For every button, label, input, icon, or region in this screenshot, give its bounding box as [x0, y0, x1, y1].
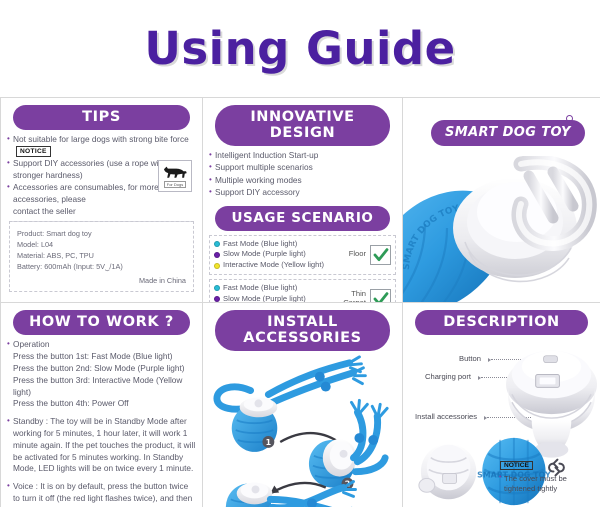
check-icon: [373, 247, 389, 263]
usage-scenario-table: Fast Mode (Blue light) Slow Mode (Purple…: [209, 235, 396, 303]
panel-install-accessories: INSTALL ACCESSORIES: [203, 303, 403, 507]
panel-grid: TIPS Not suitable for large dogs with st…: [0, 97, 600, 507]
scenario-modes: Fast Mode (Blue light) Slow Mode (Purple…: [214, 239, 332, 271]
panel-brand-hero: SMART DOG TOY: [403, 98, 600, 303]
list-item: Not suitable for large dogs with strong …: [7, 134, 196, 158]
table-row: Fast Mode (Blue light) Slow Mode (Purple…: [209, 279, 396, 303]
mode-label: Slow Mode (Purple light): [223, 294, 306, 303]
using-guide-page: Using Guide TIPS Not suitable for large …: [0, 0, 600, 507]
for-dogs-caption: For Dogs: [164, 181, 186, 188]
how-to-work-header: HOW TO WORK ?: [13, 310, 190, 335]
usage-scenario-header: USAGE SCENARIO: [215, 206, 390, 231]
spec-product-label: Product:: [17, 229, 44, 238]
panel-description: DESCRIPTION Button Charging port Install…: [403, 303, 600, 507]
check-icon: [373, 291, 389, 303]
page-title: Using Guide: [144, 22, 455, 75]
standby-list: Standby : The toy will be in Standby Mod…: [7, 416, 196, 475]
spec-model-label: Model:: [17, 240, 39, 249]
brand-badge: SMART DOG TOY: [431, 120, 585, 146]
spec-made-in: Made in China: [17, 275, 186, 286]
operation-step: Press the button 1st: Fast Mode (Blue li…: [7, 351, 196, 363]
scenario-surface-label: Thin Carpet: [336, 290, 366, 303]
mode-dot-slow: [214, 252, 220, 258]
innovative-design-bullet-list: Intelligent Induction Start-up Support m…: [209, 150, 396, 199]
dog-silhouette-icon: [162, 165, 188, 180]
spec-product-value: Smart dog toy: [46, 229, 91, 238]
product-hero-image: SMART DOG TOY: [403, 156, 600, 303]
spec-battery-label: Battery:: [17, 262, 42, 271]
description-diagram: Button Charging port Install accessories: [409, 338, 594, 507]
description-header: DESCRIPTION: [415, 310, 588, 335]
description-notice: NOTICE The cover must be tightened tight…: [500, 454, 592, 495]
spec-row-product: Product: Smart dog toy: [17, 228, 186, 239]
spec-model-value: L04: [41, 240, 53, 249]
operation-list: Operation: [7, 339, 196, 351]
registered-mark-icon: [566, 115, 573, 122]
voice-list: Voice : It is on by default, press the b…: [7, 481, 196, 507]
mode-item: Slow Mode (Purple light): [214, 294, 332, 303]
tips-bullet-3-continuation: contact the seller: [7, 206, 196, 218]
spec-battery-value: 600mAh (Input: 5V⏟/1A): [44, 262, 123, 271]
table-row: Fast Mode (Blue light) Slow Mode (Purple…: [209, 235, 396, 275]
scenario-check-box: [370, 289, 391, 303]
operation-step: Press the button 3rd: Interactive Mode (…: [7, 375, 196, 399]
panel-innovative-design: INNOVATIVE DESIGN Intelligent Induction …: [203, 98, 403, 303]
cap-piece-illustration: [419, 444, 476, 499]
list-item: Support DIY accessory: [209, 187, 396, 199]
spec-row-model: Model: L04: [17, 239, 186, 250]
product-spec-box: Product: Smart dog toy Model: L04 Materi…: [9, 221, 194, 292]
list-item: Multiple working modes: [209, 175, 396, 187]
mode-label: Fast Mode (Blue light): [223, 283, 297, 294]
notice-badge: NOTICE: [16, 146, 51, 157]
operation-step: Press the button 4th: Power Off: [7, 398, 196, 410]
mode-item: Fast Mode (Blue light): [214, 283, 332, 294]
panel-tips: TIPS Not suitable for large dogs with st…: [1, 98, 203, 303]
install-accessories-header: INSTALL ACCESSORIES: [215, 310, 390, 351]
innovative-design-header: INNOVATIVE DESIGN: [215, 105, 390, 146]
operation-step: Press the button 2nd: Slow Mode (Purple …: [7, 363, 196, 375]
mode-dot-slow: [214, 296, 220, 302]
toy-photo-illustration: SMART DOG TOY: [403, 156, 600, 303]
spec-row-material: Material: ABS, PC, TPU: [17, 250, 186, 261]
step-1-label: 1: [266, 438, 272, 447]
mode-label: Slow Mode (Purple light): [223, 249, 306, 260]
button-part: [544, 356, 558, 363]
mode-item: Interactive Mode (Yellow light): [214, 260, 332, 271]
mode-dot-fast: [214, 285, 220, 291]
spec-material-label: Material:: [17, 251, 45, 260]
scenario-modes: Fast Mode (Blue light) Slow Mode (Purple…: [214, 283, 332, 303]
spec-material-value: ABS, PC, TPU: [47, 251, 94, 260]
page-title-area: Using Guide: [0, 0, 600, 97]
list-item: Support multiple scenarios: [209, 162, 396, 174]
notice-text: The cover must be tightened tightly: [500, 474, 592, 495]
mode-label: Interactive Mode (Yellow light): [223, 260, 324, 271]
scenario-surface-label: Floor: [336, 250, 366, 259]
scenario-check-box: [370, 245, 391, 265]
tips-header: TIPS: [13, 105, 190, 130]
tips-bullet-1-text: Not suitable for large dogs with strong …: [13, 134, 189, 144]
list-item: Intelligent Induction Start-up: [209, 150, 396, 162]
for-dogs-icon: For Dogs: [158, 160, 192, 192]
panel-how-to-work: HOW TO WORK ? Operation Press the button…: [1, 303, 203, 507]
mode-label: Fast Mode (Blue light): [223, 239, 297, 250]
spec-row-battery: Battery: 600mAh (Input: 5V⏟/1A): [17, 261, 186, 272]
list-item: Standby : The toy will be in Standby Mod…: [7, 416, 196, 475]
install-diagram: 1: [209, 354, 396, 507]
mode-item: Slow Mode (Purple light): [214, 249, 332, 260]
mode-item: Fast Mode (Blue light): [214, 239, 332, 250]
install-steps-illustration: 1: [209, 354, 397, 507]
install-step-2-illustration: [309, 400, 387, 487]
notice-badge: NOTICE: [500, 461, 533, 470]
mode-dot-fast: [214, 241, 220, 247]
mode-dot-interactive: [214, 263, 220, 269]
list-item: Voice : It is on by default, press the b…: [7, 481, 196, 507]
list-item: Operation: [7, 339, 196, 351]
